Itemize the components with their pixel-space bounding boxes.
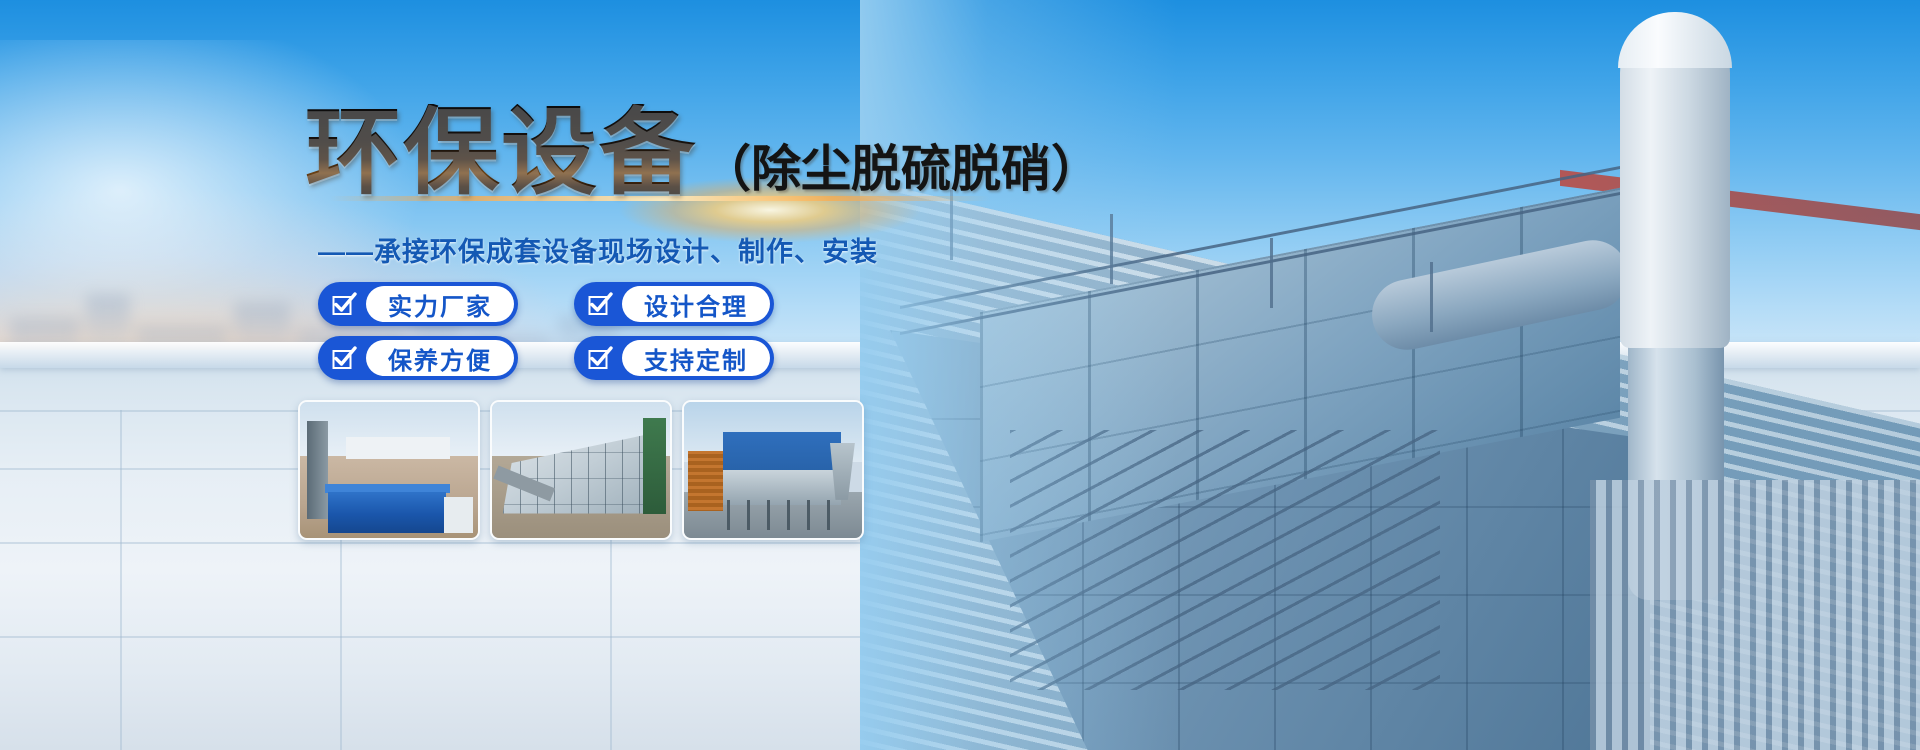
badge-label: 设计合理 [622,286,770,322]
badge-item[interactable]: 设计合理 [574,282,774,326]
badge-item[interactable]: 保养方便 [318,336,518,380]
thumb-rusty-container [688,451,724,511]
project-thumbnail-strip [298,400,864,540]
checkbox-check-icon [330,344,358,372]
thumb-blue-dust-collector [328,492,445,533]
badge-label: 实力厂家 [366,286,514,322]
page-title-parenthetical: （除尘脱硫脱硝） [701,144,1101,200]
thumbnail-item[interactable] [298,400,480,540]
thumb-green-structure [643,418,666,513]
badge-item[interactable]: 支持定制 [574,336,774,380]
banner-content: 环保设备 （除尘脱硫脱硝） ——承接环保成套设备现场设计、制作、安装 实力厂家 … [0,0,1100,750]
badge-label: 保养方便 [366,340,514,376]
headline-group: 环保设备 （除尘脱硫脱硝） [305,104,1101,200]
badge-label: 支持定制 [622,340,770,376]
thumbnail-item[interactable] [490,400,672,540]
page-title: 环保设备 [305,104,697,200]
thumb-background-building [346,437,449,459]
thumb-control-shed [444,497,472,532]
checkbox-check-icon [586,344,614,372]
banner-stage: 环保设备 （除尘脱硫脱硝） ——承接环保成套设备现场设计、制作、安装 实力厂家 … [0,0,1920,750]
thumbnail-item[interactable] [682,400,864,540]
badge-item[interactable]: 实力厂家 [318,282,518,326]
checkbox-check-icon [586,290,614,318]
checkbox-check-icon [330,290,358,318]
thumb-steel-tower [307,421,328,519]
thumb-support-legs [727,500,837,530]
feature-badge-grid: 实力厂家 设计合理 保养方便 支持定制 [318,277,814,385]
tagline: ——承接环保成套设备现场设计、制作、安装 [318,230,878,269]
